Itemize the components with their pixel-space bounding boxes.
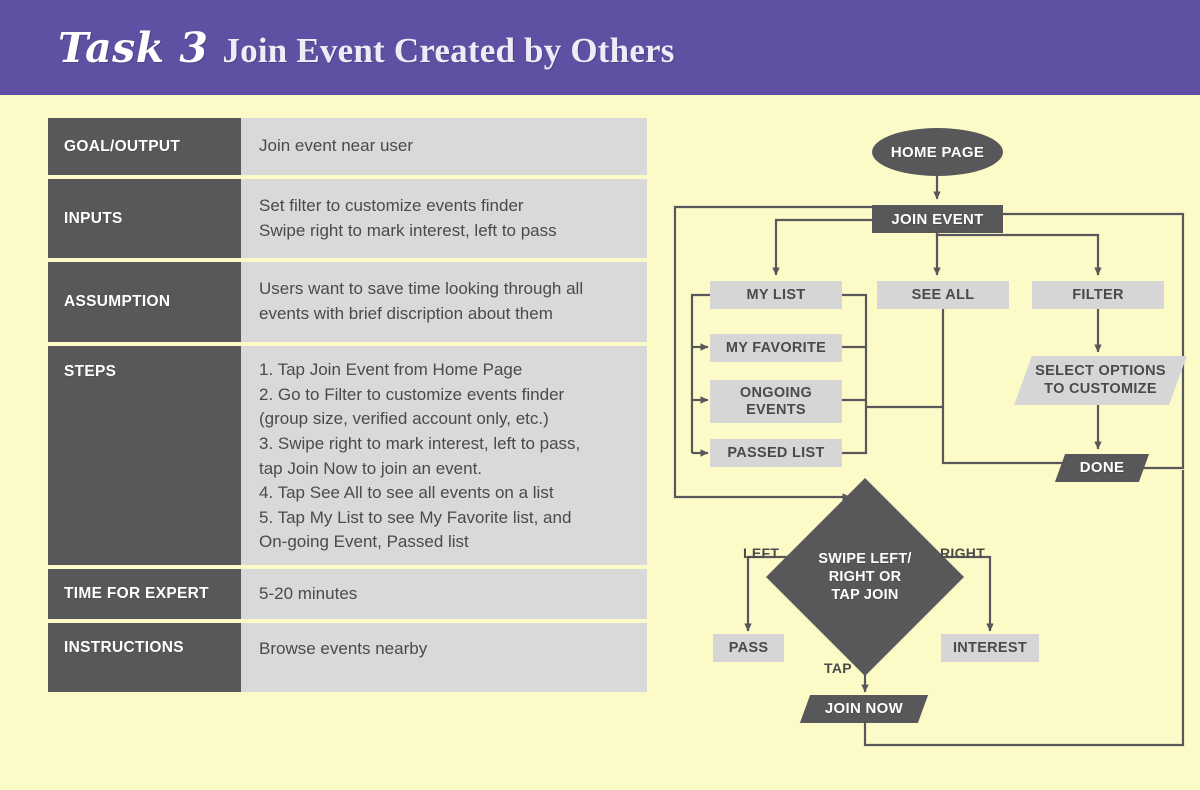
- flow-node-label: PASSED LIST: [727, 445, 824, 461]
- row-label-assumption: ASSUMPTION: [48, 262, 241, 342]
- flow-node-label: HOME PAGE: [891, 144, 984, 161]
- flow-node-label: RIGHT OR: [829, 568, 902, 586]
- edge-label-right: RIGHT: [940, 545, 985, 561]
- row-value-time-for-expert: 5-20 minutes: [241, 569, 647, 619]
- flow-node-see-all[interactable]: SEE ALL: [877, 281, 1009, 309]
- flow-node-select-options[interactable]: SELECT OPTIONS TO CUSTOMIZE: [1023, 356, 1178, 405]
- text-line: Swipe right to mark interest, left to pa…: [259, 219, 633, 244]
- flow-node-pass[interactable]: PASS: [713, 634, 784, 662]
- page-title: Join Event Created by Others: [222, 31, 674, 71]
- flow-node-label: TAP JOIN: [831, 586, 898, 604]
- row-label-inputs: INPUTS: [48, 179, 241, 258]
- flow-node-interest[interactable]: INTEREST: [941, 634, 1039, 662]
- table-row: ASSUMPTION Users want to save time looki…: [48, 262, 647, 342]
- table-row: TIME FOR EXPERT 5-20 minutes: [48, 569, 647, 619]
- flow-node-my-list[interactable]: MY LIST: [710, 281, 842, 309]
- text-line: 5-20 minutes: [259, 582, 633, 607]
- flow-node-label: SEE ALL: [912, 287, 975, 303]
- text-line: Browse events nearby: [259, 637, 633, 662]
- flow-node-label: MY FAVORITE: [726, 340, 826, 356]
- text-line: 1. Tap Join Event from Home Page: [259, 358, 633, 383]
- row-value-goal-output: Join event near user: [241, 118, 647, 175]
- flow-node-label: INTEREST: [953, 640, 1027, 656]
- task-flowchart: HOME PAGE JOIN EVENT MY LIST SEE ALL FIL…: [660, 110, 1200, 780]
- flow-node-label: JOIN EVENT: [891, 211, 983, 228]
- table-row: STEPS 1. Tap Join Event from Home Page 2…: [48, 346, 647, 565]
- text-line: 5. Tap My List to see My Favorite list, …: [259, 506, 633, 531]
- row-label-steps: STEPS: [48, 346, 241, 565]
- flow-node-label: SELECT OPTIONS: [1035, 363, 1166, 380]
- text-line: tap Join Now to join an event.: [259, 457, 633, 482]
- flow-node-label: ONGOING: [740, 385, 812, 402]
- flow-node-label: DONE: [1080, 459, 1125, 477]
- table-row: GOAL/OUTPUT Join event near user: [48, 118, 647, 175]
- flow-node-filter[interactable]: FILTER: [1032, 281, 1164, 309]
- text-line: events with brief discription about them: [259, 302, 633, 327]
- page-header: Task 3 Join Event Created by Others: [0, 0, 1200, 95]
- flow-node-home-page[interactable]: HOME PAGE: [872, 128, 1003, 176]
- row-value-inputs: Set filter to customize events finder Sw…: [241, 179, 647, 258]
- text-line: 2. Go to Filter to customize events find…: [259, 383, 633, 408]
- flow-node-done[interactable]: DONE: [1060, 454, 1144, 482]
- flow-node-label: FILTER: [1072, 287, 1123, 303]
- flow-node-join-event[interactable]: JOIN EVENT: [872, 205, 1003, 233]
- flow-node-join-now[interactable]: JOIN NOW: [805, 695, 923, 723]
- table-row: INSTRUCTIONS Browse events nearby: [48, 623, 647, 692]
- text-line: 3. Swipe right to mark interest, left to…: [259, 432, 633, 457]
- row-label-goal-output: GOAL/OUTPUT: [48, 118, 241, 175]
- flow-node-passed-list[interactable]: PASSED LIST: [710, 439, 842, 467]
- text-line: (group size, verified account only, etc.…: [259, 407, 633, 432]
- row-label-time-for-expert: TIME FOR EXPERT: [48, 569, 241, 619]
- flow-node-swipe-decision[interactable]: SWIPE LEFT/ RIGHT OR TAP JOIN: [795, 507, 935, 647]
- text-line: Set filter to customize events finder: [259, 194, 633, 219]
- flow-node-label: TO CUSTOMIZE: [1044, 381, 1157, 398]
- row-value-steps: 1. Tap Join Event from Home Page 2. Go t…: [241, 346, 647, 565]
- text-line: On-going Event, Passed list: [259, 530, 633, 555]
- text-line: Join event near user: [259, 134, 633, 159]
- task-details-table: GOAL/OUTPUT Join event near user INPUTS …: [48, 118, 647, 692]
- flow-node-label: JOIN NOW: [825, 700, 903, 718]
- flow-node-ongoing-events[interactable]: ONGOING EVENTS: [710, 380, 842, 423]
- row-value-instructions: Browse events nearby: [241, 623, 647, 692]
- row-label-instructions: INSTRUCTIONS: [48, 623, 241, 692]
- row-value-assumption: Users want to save time looking through …: [241, 262, 647, 342]
- edge-label-left: LEFT: [743, 545, 779, 561]
- table-row: INPUTS Set filter to customize events fi…: [48, 179, 647, 258]
- header-title-group: Task 3 Join Event Created by Others: [0, 24, 675, 72]
- text-line: 4. Tap See All to see all events on a li…: [259, 481, 633, 506]
- text-line: Users want to save time looking through …: [259, 277, 633, 302]
- flow-node-label: EVENTS: [746, 402, 806, 419]
- flow-node-label: PASS: [729, 640, 769, 656]
- flow-node-label: MY LIST: [746, 287, 805, 303]
- task-number-label: Task 3: [58, 24, 208, 72]
- flow-node-label: SWIPE LEFT/: [818, 550, 911, 568]
- edge-label-tap: TAP: [824, 660, 852, 676]
- flow-node-my-favorite[interactable]: MY FAVORITE: [710, 334, 842, 362]
